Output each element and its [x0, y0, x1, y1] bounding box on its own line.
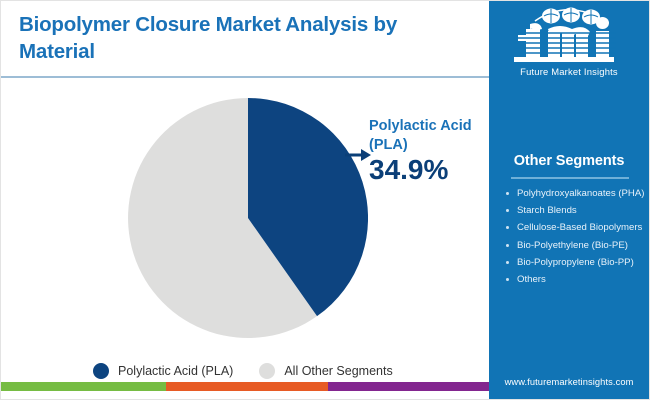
pie-callout: Polylactic Acid (PLA) 34.9% [369, 117, 491, 184]
pie-chart [128, 98, 368, 338]
list-item-label: Cellulose-Based Biopolymers [517, 222, 642, 233]
list-item: Cellulose-Based Biopolymers [505, 221, 645, 234]
list-item: Bio-Polyethylene (Bio-PE) [505, 239, 645, 252]
list-item-label: Starch Blends [517, 205, 577, 216]
other-segments-list: Polyhydroxyalkanoates (PHA) Starch Blend… [505, 187, 645, 290]
list-item: Bio-Polypropylene (Bio-PP) [505, 256, 645, 269]
arrow-right-icon [345, 147, 371, 163]
bullet-icon [506, 226, 509, 229]
legend-swatch-icon [259, 363, 275, 379]
callout-segment-name: Polylactic Acid (PLA) [369, 117, 491, 154]
list-item: Others [505, 273, 645, 286]
fmi-logo-icon [504, 7, 634, 65]
website-url[interactable]: www.futuremarketinsights.com [489, 377, 649, 387]
callout-segment-value: 34.9% [369, 155, 491, 184]
bullet-icon [506, 209, 509, 212]
title-divider [1, 76, 491, 78]
bullet-icon [506, 261, 509, 264]
legend-swatch-icon [93, 363, 109, 379]
chart-panel: Biopolymer Closure Market Analysis by Ma… [1, 1, 491, 391]
pie-chart-svg [128, 98, 368, 338]
stripe-segment-purple [328, 382, 491, 391]
infographic-canvas: Biopolymer Closure Market Analysis by Ma… [0, 0, 650, 400]
list-item-label: Polyhydroxyalkanoates (PHA) [517, 188, 644, 199]
bullet-icon [506, 244, 509, 247]
stripe-segment-orange [166, 382, 328, 391]
bottom-color-stripe [1, 382, 491, 391]
stripe-segment-green [1, 382, 166, 391]
chart-legend: Polylactic Acid (PLA) All Other Segments [93, 363, 393, 379]
legend-item-all-other-segments: All Other Segments [259, 363, 392, 379]
page-title: Biopolymer Closure Market Analysis by Ma… [19, 11, 399, 65]
brand-side-panel: Future Market Insights Other Segments Po… [489, 1, 649, 400]
list-item-label: Bio-Polyethylene (Bio-PE) [517, 240, 628, 251]
other-segments-heading: Other Segments [489, 153, 649, 169]
bullet-icon [506, 278, 509, 281]
legend-label: Polylactic Acid (PLA) [118, 364, 233, 378]
list-item: Starch Blends [505, 204, 645, 217]
logo-tagline: Future Market Insights [489, 66, 649, 77]
list-item-label: Others [517, 274, 546, 285]
list-item: Polyhydroxyalkanoates (PHA) [505, 187, 645, 200]
legend-label: All Other Segments [284, 364, 392, 378]
other-segments-underline [511, 177, 629, 179]
fmi-logo: Future Market Insights [489, 7, 649, 77]
legend-item-polylactic-acid: Polylactic Acid (PLA) [93, 363, 233, 379]
list-item-label: Bio-Polypropylene (Bio-PP) [517, 257, 634, 268]
bullet-icon [506, 192, 509, 195]
